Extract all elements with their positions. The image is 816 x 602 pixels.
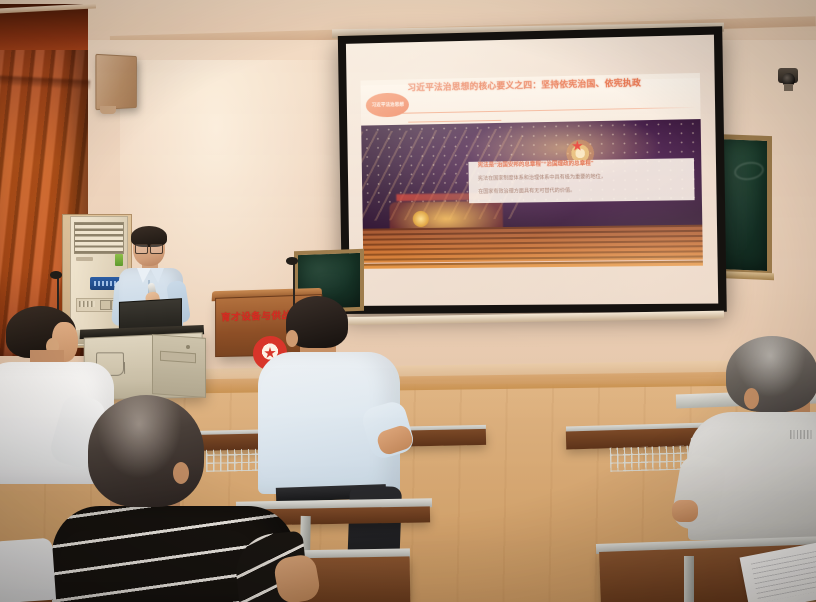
microphone-head-icon (50, 271, 62, 279)
classroom-photo: 习近平法治思想的核心要义之四：坚持依宪治国、依宪执政 习近平法治思想 宪法是“治… (0, 0, 816, 602)
ac-port-left (100, 300, 111, 310)
hall-emblem-icon (413, 211, 429, 227)
ac-brand-badge (76, 257, 93, 261)
slide-text-panel: 宪法是“治国安邦的总章程”“治国理政的总章程” 宪法在国家制度体系和治理体系中具… (469, 158, 695, 204)
microphone-head-icon-2 (286, 257, 298, 265)
attendee-right-ear (744, 388, 759, 409)
desk-leg-front-right (684, 556, 694, 602)
attendee-front-ear (173, 462, 189, 484)
attendee-right-hair (726, 336, 816, 412)
attendee-far-left-partial (0, 538, 56, 602)
wall-speaker-icon (95, 54, 136, 110)
camera-mount (784, 84, 793, 91)
attendee-center-ear (286, 330, 298, 347)
ac-louvers-icon (74, 222, 124, 254)
glasses-icon (135, 244, 163, 252)
ac-energy-label (115, 254, 123, 266)
attendee-right-hand (672, 500, 698, 522)
ac-vent-grille (79, 301, 95, 307)
slide-highlight-text: 宪法是“治国安邦的总章程”“治国理政的总章程” (478, 160, 690, 169)
console-side-cabinet (152, 334, 206, 398)
slide-body-line-2: 在国家有效治理方面具有无可替代的价值。 (478, 187, 690, 196)
projection-surface: 习近平法治思想的核心要义之四：坚持依宪治国、依宪执政 习近平法治思想 宪法是“治… (346, 35, 718, 306)
attendee-right-shirt-print (790, 430, 814, 439)
presentation-slide: 习近平法治思想的核心要义之四：坚持依宪治国、依宪执政 习近平法治思想 宪法是“治… (361, 73, 703, 269)
slide-body-line-1: 宪法在国家制度体系和治理体系中具有极为重要的地位， (478, 174, 690, 183)
projection-screen: 习近平法治思想的核心要义之四：坚持依宪治国、依宪执政 习近平法治思想 宪法是“治… (338, 26, 727, 314)
wall-speaker-bracket (100, 106, 116, 114)
attendee-front-hair (88, 395, 204, 507)
console-knob[interactable] (186, 345, 190, 349)
